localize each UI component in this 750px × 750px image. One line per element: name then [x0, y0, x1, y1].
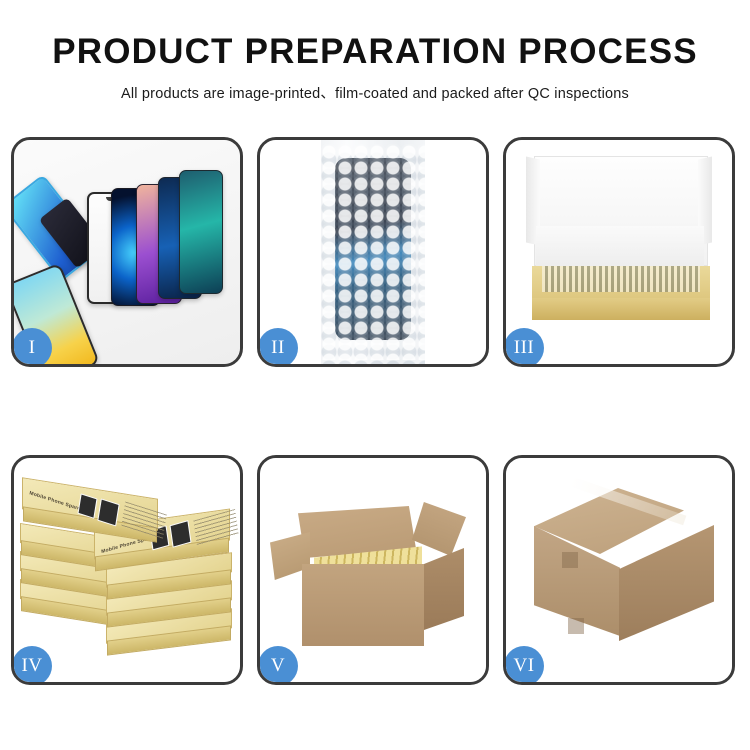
header: PRODUCT PREPARATION PROCESS All products…: [0, 0, 750, 103]
step-panel-5: V: [257, 455, 489, 685]
bubble-highlights: [321, 144, 425, 360]
step-image-3: [506, 140, 732, 364]
step-badge-1: I: [12, 328, 52, 367]
carton-front-face: [302, 564, 424, 646]
carton-tab-upper: [562, 552, 578, 568]
kraft-tray-front: [532, 298, 710, 320]
step-badge-4: IV: [12, 646, 52, 685]
step-image-5: [260, 458, 486, 682]
step-badge-5: V: [258, 646, 298, 685]
phone-screen-teal: [179, 170, 223, 294]
step-badge-2: II: [258, 328, 298, 367]
packed-units-row: [542, 266, 700, 292]
page-title: PRODUCT PREPARATION PROCESS: [0, 34, 750, 71]
product-preparation-infographic: PRODUCT PREPARATION PROCESS All products…: [0, 0, 750, 750]
step-badge-6: VI: [504, 646, 544, 685]
sealed-carton-right-face: [619, 525, 714, 641]
carton-side-face: [424, 548, 464, 630]
step-panel-1: I: [11, 137, 243, 367]
step-panel-2: II: [257, 137, 489, 367]
box-stack: Mobile Phone Spare Parts Mobile Phone Sp…: [20, 482, 234, 662]
page-subtitle: All products are image-printed、film-coat…: [0, 82, 750, 103]
step-image-4: Mobile Phone Spare Parts Mobile Phone Sp…: [14, 458, 240, 682]
steps-grid: I II III: [11, 137, 739, 685]
labelled-box-upper: Mobile Phone Spare Parts: [22, 477, 158, 531]
step-image-6: [506, 458, 732, 682]
step-image-1: [14, 140, 240, 364]
step-panel-4: Mobile Phone Spare Parts Mobile Phone Sp…: [11, 455, 243, 685]
foam-liner: [536, 226, 704, 268]
step-panel-6: VI: [503, 455, 735, 685]
step-image-2: [260, 140, 486, 364]
step-panel-3: III: [503, 137, 735, 367]
step-badge-3: III: [504, 328, 544, 367]
carton-tab-lower: [568, 618, 584, 634]
